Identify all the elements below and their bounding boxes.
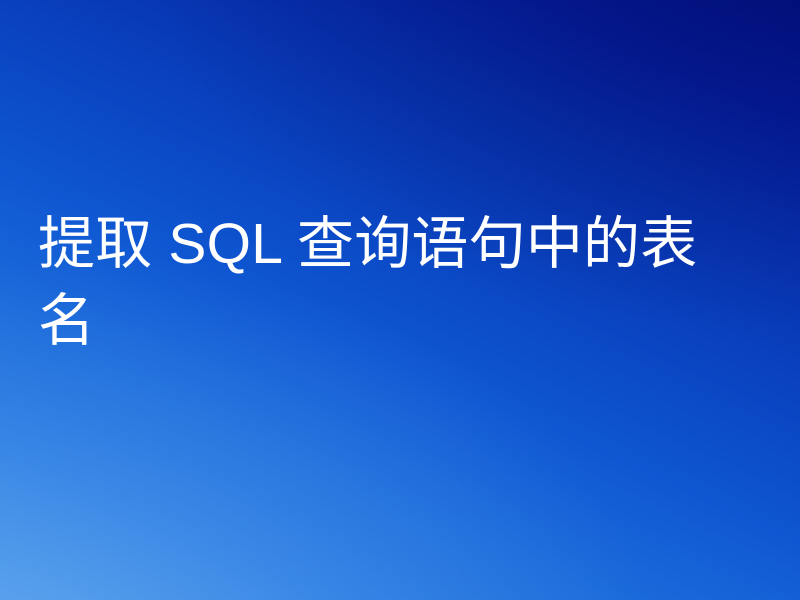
slide-canvas: 提取 SQL 查询语句中的表名 (0, 0, 800, 600)
title-block: 提取 SQL 查询语句中的表名 (38, 206, 728, 360)
slide-title: 提取 SQL 查询语句中的表名 (38, 206, 728, 360)
